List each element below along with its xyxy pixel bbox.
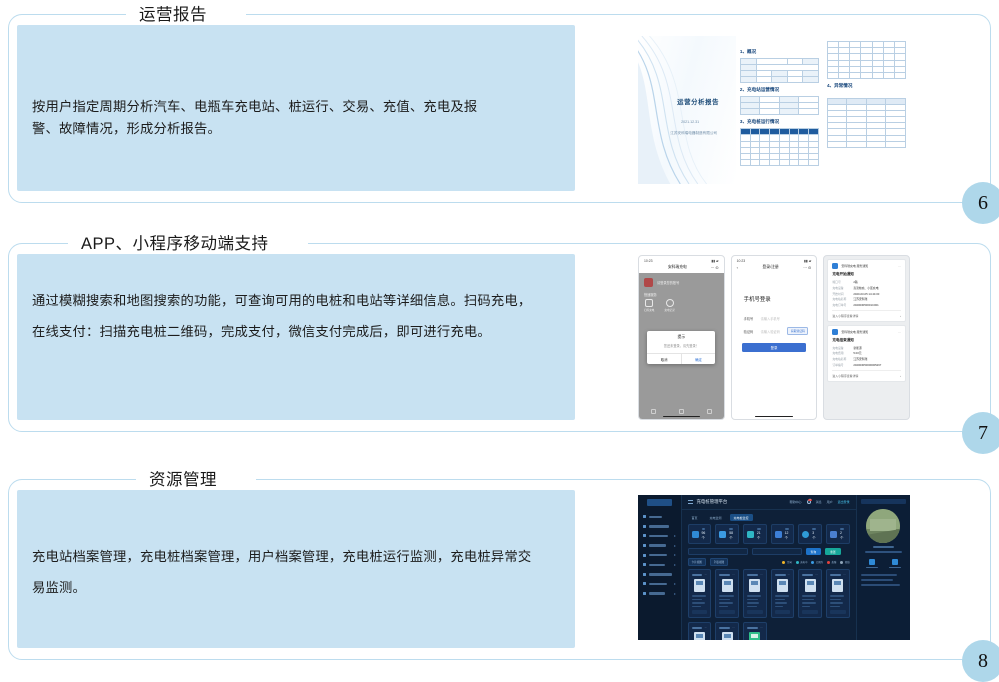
report-cover-company: 江苏安科瑞电器制造有限公司 <box>670 131 717 136</box>
report-table-overview <box>740 58 819 84</box>
report-heading-3: 3、充电桩运行情况 <box>740 119 819 125</box>
info-value: 5.00元 <box>853 351 861 355</box>
stat-icon <box>747 531 754 538</box>
report-sub-note <box>827 92 906 96</box>
chevron-right-icon <box>674 535 676 537</box>
legend-item: 空闲 <box>782 560 791 564</box>
action-label <box>866 567 878 569</box>
tab-home-icon[interactable] <box>651 409 656 414</box>
section-operation-report: 运营报告 按用户指定周期分析汽车、电瓶车充电站、桩运行、交易、充值、充电及报警、… <box>8 14 991 203</box>
pile-card[interactable]: ⋯ <box>688 569 712 618</box>
avatar <box>644 278 653 287</box>
sidebar-item-stations[interactable] <box>638 522 681 532</box>
logout-link[interactable]: 退出登录 <box>838 500 850 504</box>
more-icon: ⋯ <box>843 573 846 576</box>
report-heading-1: 1、概况 <box>740 49 819 55</box>
section-mobile-support: APP、小程序移动端支持 通过模糊搜索和地图搜索的功能，可查询可用的电桩和电站等… <box>8 243 991 432</box>
pile-card-footer <box>719 610 735 614</box>
report-table-piles <box>740 128 819 166</box>
stat-card: 3 个 <box>798 524 822 544</box>
phone-field-row: 手机号 请输入手机号 <box>744 316 809 321</box>
help-link[interactable]: 帮助中心 <box>790 500 802 504</box>
pile-card[interactable]: ⋯ <box>743 622 767 640</box>
dashboard-sidebar <box>638 495 682 640</box>
filter-bar: 查询 重置 <box>682 548 856 558</box>
notification-card[interactable]: 安科瑞充电 服务通知 ⋯ 充电开始通知 端口号2路 充电设备直流桩充、小区充电 … <box>827 259 906 322</box>
section-description: 按用户指定周期分析汽车、电瓶车充电站、桩运行、交易、充值、充电及报警、故障情况，… <box>32 96 502 140</box>
info-row: 充电订单号202003050001C001 <box>832 303 901 307</box>
search-button[interactable]: 查询 <box>806 548 822 555</box>
report-heading-4: 4、异常情况 <box>827 83 906 89</box>
action-label: 扫码充电 <box>644 308 654 312</box>
stat-label <box>785 528 789 530</box>
phone-body: 请登录您的账号 快速服务 扫码充电 充电记录 <box>639 273 724 419</box>
legend-item: 已预约 <box>811 560 823 564</box>
notification-bell-icon[interactable]: 3 <box>807 500 811 504</box>
keyword-input[interactable] <box>688 548 748 555</box>
section-description: 通过模糊搜索和地图搜索的功能，可查询可用的电桩和电站等详细信息。扫码充电，在线支… <box>32 285 534 347</box>
device-info-line <box>861 574 897 576</box>
info-row: 开始时间2020-03-05 14:44:00 <box>832 292 901 296</box>
card-header: 安科瑞充电 服务通知 ⋯ <box>832 329 901 335</box>
report-heading-2: 2、充电站运营情况 <box>740 87 819 93</box>
operation-report-thumbnail: 运营分析报告 2021.12.31 江苏安科瑞电器制造有限公司 1、概况 2、充… <box>638 36 910 184</box>
dialog-message: 您还未登录，请先登录！ <box>647 343 715 348</box>
more-icon: ⋯ <box>732 626 735 629</box>
info-value: 2路 <box>853 280 857 284</box>
menu-toggle-icon[interactable] <box>688 500 693 504</box>
charge-records-action[interactable]: 充电记录 <box>664 299 674 312</box>
remote-stop-button[interactable] <box>889 559 901 568</box>
info-row: 充电设备直流桩充、小区充电 <box>832 286 901 290</box>
remote-start-button[interactable] <box>866 559 878 568</box>
tab-charge-icon[interactable] <box>679 409 684 414</box>
transaction-icon <box>643 563 646 566</box>
pile-icon <box>722 579 733 592</box>
dashboard-tabs: 首页 充电监测 充电桩监控 <box>682 510 856 524</box>
notification-title: 充电开始通知 <box>832 272 901 277</box>
status-icons: ▮▮ ▰ <box>711 259 718 263</box>
info-row: 充电站名称江苏安科瑞 <box>832 357 901 361</box>
stat-value: 3 个 <box>812 531 818 540</box>
card-header: 安科瑞充电 服务通知 ⋯ <box>832 263 901 269</box>
header-actions: 帮助中心 3 消息 用户 退出登录 <box>790 500 850 504</box>
stat-card: 96 个 <box>688 524 712 544</box>
home-icon <box>643 515 646 518</box>
more-icon: ⋯ <box>705 626 708 629</box>
legend-item: 充电中 <box>796 560 808 564</box>
user-header: 请登录您的账号 <box>644 278 679 287</box>
chevron-right-icon <box>674 545 676 547</box>
mobile-app-thumbnail: 10:23 ▮▮ ▰ 安科瑞充电 ⋯ ⊙ 请登录您的账号 <box>638 255 910 420</box>
pile-icon <box>805 579 816 592</box>
nav-title: 安科瑞充电 <box>668 265 687 270</box>
device-actions <box>861 559 906 568</box>
stat-value: 58 个 <box>729 531 735 540</box>
status-time: 10:23 <box>737 259 746 263</box>
dialog-title: 提示 <box>647 335 715 340</box>
legend-item: 故障 <box>827 560 836 564</box>
section-resource-management: 资源管理 充电站档案管理，充电桩档案管理，用户档案管理，充电桩运行监测，充电桩异… <box>8 479 991 660</box>
stat-value: 12 个 <box>785 531 791 540</box>
pile-icon <box>832 579 843 592</box>
dialog-buttons: 取消 确定 <box>647 353 715 364</box>
more-icon: ⋯ <box>705 573 708 576</box>
chevron-right-icon <box>674 554 676 556</box>
stat-label <box>729 528 733 530</box>
pile-card[interactable]: ⋯ <box>798 569 822 618</box>
scan-charge-action[interactable]: 扫码充电 <box>644 299 654 312</box>
info-row: 订单编号202003050000005267 <box>832 363 901 367</box>
user-link[interactable]: 用户 <box>827 500 833 504</box>
legend-bar: 卡片视图 列表视图 空闲 充电中 已预约 故障 离线 <box>682 558 856 569</box>
more-icon: ⋯ <box>760 626 763 629</box>
info-key: 充电订单号 <box>832 303 849 307</box>
chevron-right-icon: › <box>900 374 901 378</box>
stat-label <box>757 528 761 530</box>
section-description: 充电站档案管理，充电桩档案管理，用户档案管理，充电桩运行监测，充电桩异常交易监测… <box>32 541 534 603</box>
phone-field-input[interactable]: 请输入手机号 <box>761 316 809 321</box>
stop-icon <box>892 559 898 565</box>
nav-bar: 安科瑞充电 ⋯ ⊙ <box>639 264 724 273</box>
section-title: 资源管理 <box>140 466 226 490</box>
report-cover-title: 运营分析报告 <box>677 97 719 106</box>
dialog-cancel-button[interactable]: 取消 <box>647 354 680 364</box>
pile-icon <box>722 632 733 640</box>
info-key: 充电站名称 <box>832 357 849 361</box>
stat-cards: 96 个 58 个 21 个 12 个 3 个 2 个 <box>682 524 856 548</box>
user-icon <box>643 544 646 547</box>
pile-card[interactable]: ⋯ <box>771 569 795 618</box>
info-key: 充电设备 <box>832 286 849 290</box>
phone-field-label: 手机号 <box>744 316 756 321</box>
notification-title: 充电结束通知 <box>832 338 901 343</box>
info-value: 直流桩充、小区充电 <box>853 286 878 290</box>
status-legend: 空闲 充电中 已预约 故障 离线 <box>782 560 849 564</box>
stat-icon <box>775 531 782 538</box>
pile-icon <box>694 632 705 640</box>
messages-link[interactable]: 消息 <box>816 500 822 504</box>
status-select[interactable] <box>752 548 802 555</box>
action-label: 充电记录 <box>664 308 674 312</box>
pile-card-footer <box>830 610 846 614</box>
report-page-3: 4、异常情况 <box>823 36 910 184</box>
sidebar-item-transactions[interactable] <box>638 560 681 570</box>
sidebar-item-label <box>649 525 669 527</box>
pile-icon-active <box>749 632 760 640</box>
info-value: 202003050001C001 <box>853 303 878 307</box>
report-page-2: 1、概况 2、充电站运营情况 3、充电桩运行情况 <box>736 36 823 184</box>
nav-capsule: ⋯ ⊙ <box>803 265 811 270</box>
nav-title: 登录/注册 <box>762 265 778 270</box>
sidebar-item-label <box>649 516 662 518</box>
stat-value: 96 个 <box>702 531 708 540</box>
chevron-right-icon <box>674 593 676 595</box>
notification-card[interactable]: 安科瑞充电 服务通知 ⋯ 充电结束通知 充电设备新能源 充电费用5.00元 充电… <box>827 325 906 382</box>
header-title: 充电桩管理平台 <box>697 499 728 505</box>
stat-label <box>702 528 706 530</box>
status-bar: 10:23 ▮▮ ▰ <box>732 256 817 264</box>
sidebar-item-monitoring[interactable] <box>638 550 681 560</box>
pile-card-footer <box>747 610 763 614</box>
phone-body: 手机号登录 手机号 请输入手机号 验证码 请输入验证码 获取验证码 登录 <box>732 273 817 419</box>
device-info-line <box>861 579 894 581</box>
info-key: 充电费用 <box>832 351 849 355</box>
tab-pile-monitor[interactable]: 充电桩监控 <box>730 514 753 521</box>
view-chip-card[interactable]: 卡片视图 <box>688 558 706 566</box>
device-info-line <box>861 584 900 586</box>
footer-label: 进入小程序查看详情 <box>832 374 858 378</box>
info-row: 充电设备新能源 <box>832 346 901 350</box>
info-row: 端口号2路 <box>832 280 901 284</box>
home-indicator <box>663 416 700 417</box>
code-field-input[interactable]: 请输入验证码 <box>761 329 783 334</box>
stat-icon <box>719 531 726 538</box>
status-icons: ▮▮ ▰ <box>804 259 811 263</box>
home-indicator <box>755 416 792 417</box>
more-icon: ⋯ <box>732 573 735 576</box>
phone-home-screen: 10:23 ▮▮ ▰ 安科瑞充电 ⋯ ⊙ 请登录您的账号 <box>638 255 725 420</box>
quick-service-label: 快速服务 <box>644 292 657 297</box>
device-description <box>865 551 902 553</box>
notification-count: 3 <box>808 499 811 501</box>
stat-card: 58 个 <box>715 524 739 544</box>
app-icon <box>832 329 838 335</box>
sidebar-item-abnormal[interactable] <box>638 570 681 580</box>
sidebar-item-users[interactable] <box>638 541 681 551</box>
info-value: 2020-03-05 14:44:00 <box>853 292 879 296</box>
feature-sections-page: 运营报告 按用户指定周期分析汽车、电瓶车充电站、桩运行、交易、充值、充电及报警、… <box>0 0 999 682</box>
station-icon <box>643 525 646 528</box>
sidebar-item-settings[interactable] <box>638 589 681 599</box>
info-value: 江苏安科瑞 <box>853 357 867 361</box>
tab-home[interactable]: 首页 <box>688 514 702 521</box>
more-icon[interactable]: ⋯ <box>898 330 901 334</box>
stat-value: 2 个 <box>840 531 846 540</box>
records-icon <box>666 299 674 307</box>
card-footer[interactable]: 进入小程序查看详情 › <box>832 370 901 378</box>
nav-capsule: ⋯ ⊙ <box>711 265 719 270</box>
pile-icon <box>643 534 646 537</box>
pile-card-footer <box>775 610 791 614</box>
dashboard-header: 充电桩管理平台 帮助中心 3 消息 用户 退出登录 <box>682 495 856 510</box>
monitor-icon <box>643 554 646 557</box>
login-submit-button[interactable]: 登录 <box>742 343 807 352</box>
chevron-right-icon <box>674 583 676 585</box>
chevron-right-icon: › <box>900 314 901 318</box>
sidebar-item-label <box>649 535 668 537</box>
sidebar-item-reports[interactable] <box>638 579 681 589</box>
info-row: 充电站名称江苏安科瑞 <box>832 297 901 301</box>
reset-button[interactable]: 重置 <box>825 548 841 555</box>
app-name: 安科瑞充电 服务通知 <box>841 264 895 268</box>
report-icon <box>643 582 646 585</box>
app-icon <box>832 263 838 269</box>
alert-icon <box>643 573 646 576</box>
report-cover-page: 运营分析报告 2021.12.31 江苏安科瑞电器制造有限公司 <box>638 36 736 184</box>
more-icon: ⋯ <box>815 573 818 576</box>
resource-dashboard-thumbnail: 充电桩管理平台 帮助中心 3 消息 用户 退出登录 首页 充电监测 充电桩监控 <box>638 495 910 640</box>
info-value: 江苏安科瑞 <box>853 297 867 301</box>
stat-icon <box>830 531 837 538</box>
info-key: 充电站名称 <box>832 297 849 301</box>
sidebar-item-label <box>649 573 672 575</box>
code-field-label: 验证码 <box>744 329 756 334</box>
stat-icon <box>802 531 809 538</box>
device-photo <box>866 509 900 543</box>
phone-login-screen: 10:23 ▮▮ ▰ ‹ 登录/注册 ⋯ ⊙ 手机号登录 手机号 请输入手机号 <box>731 255 818 420</box>
stat-card: 2 个 <box>826 524 850 544</box>
footer-label: 进入小程序查看详情 <box>832 314 858 318</box>
stat-value: 21 个 <box>757 531 763 540</box>
sidebar-item-label <box>649 583 667 585</box>
report-table-detail <box>827 41 906 79</box>
more-icon[interactable]: ⋯ <box>898 264 901 268</box>
status-time: 10:23 <box>644 259 653 263</box>
login-title: 手机号登录 <box>744 295 771 303</box>
info-value: 新能源 <box>853 346 861 350</box>
sidebar-item-label <box>649 564 665 566</box>
code-field-row: 验证码 请输入验证码 获取验证码 <box>744 327 809 335</box>
action-label <box>889 567 901 569</box>
phone-notifications-screen: 安科瑞充电 服务通知 ⋯ 充电开始通知 端口号2路 充电设备直流桩充、小区充电 … <box>823 255 910 420</box>
legend-item: 离线 <box>840 560 849 564</box>
pile-card[interactable]: ⋯ <box>715 622 739 640</box>
sidebar-item-label <box>649 544 666 546</box>
pile-card-footer <box>692 610 708 614</box>
more-icon: ⋯ <box>788 573 791 576</box>
nav-bar: ‹ 登录/注册 ⋯ ⊙ <box>732 264 817 273</box>
tab-bar <box>639 409 724 414</box>
app-name: 安科瑞充电 服务通知 <box>841 330 895 334</box>
more-icon: ⋯ <box>760 573 763 576</box>
report-page-header <box>740 41 819 45</box>
sidebar-item-label <box>649 592 665 594</box>
tab-profile-icon[interactable] <box>707 409 712 414</box>
sidebar-item-piles[interactable] <box>638 531 681 541</box>
dashboard-right-panel <box>856 495 910 640</box>
tab-charge-monitor[interactable]: 充电监测 <box>706 514 726 521</box>
section-title: APP、小程序移动端支持 <box>72 230 278 254</box>
view-chip-list[interactable]: 列表视图 <box>710 558 728 566</box>
brand-logo <box>647 499 673 506</box>
stat-label <box>840 528 844 530</box>
pile-card[interactable]: ⋯ <box>715 569 739 618</box>
section-title: 运营报告 <box>130 1 216 25</box>
pile-icon <box>777 579 788 592</box>
dashboard-main: 充电桩管理平台 帮助中心 3 消息 用户 退出登录 首页 充电监测 充电桩监控 <box>682 495 856 640</box>
info-row: 充电费用5.00元 <box>832 351 901 355</box>
info-key: 开始时间 <box>832 292 849 296</box>
stat-card: 12 个 <box>771 524 795 544</box>
section-number-badge-8: 8 <box>962 640 999 682</box>
start-icon <box>869 559 875 565</box>
pile-icon <box>694 579 705 592</box>
login-prompt-dialog: 提示 您还未登录，请先登录！ 取消 确定 <box>647 331 715 364</box>
section-number-badge-7: 7 <box>962 412 999 454</box>
section-number-badge-6: 6 <box>962 182 999 224</box>
pile-icon <box>749 579 760 592</box>
report-cover-date: 2021.12.31 <box>681 120 699 124</box>
report-table-exceptions <box>827 98 906 148</box>
pile-card[interactable]: ⋯ <box>826 569 850 618</box>
pile-card-grid: ⋯ ⋯ ⋯ ⋯ ⋯ ⋯ ⋯ ⋯ ⋯ <box>682 569 856 640</box>
back-icon[interactable]: ‹ <box>737 266 738 270</box>
quick-actions: 扫码充电 充电记录 <box>644 299 675 312</box>
info-key: 端口号 <box>832 280 849 284</box>
card-footer[interactable]: 进入小程序查看详情 › <box>832 310 901 318</box>
gear-icon <box>643 592 646 595</box>
chevron-right-icon <box>674 564 676 566</box>
stat-label <box>812 528 816 530</box>
sidebar-item-label <box>649 554 667 556</box>
panel-header <box>861 499 906 504</box>
stat-card: 21 个 <box>743 524 767 544</box>
pile-card-footer <box>802 610 818 614</box>
info-key: 充电设备 <box>832 346 849 350</box>
login-hint: 请登录您的账号 <box>657 280 679 285</box>
dialog-confirm-button[interactable]: 确定 <box>681 354 715 364</box>
get-code-button[interactable]: 获取验证码 <box>787 327 808 335</box>
info-key: 订单编号 <box>832 363 849 367</box>
info-value: 202003050000005267 <box>853 363 881 367</box>
pile-card[interactable]: ⋯ <box>743 569 767 618</box>
device-name <box>873 546 894 548</box>
status-bar: 10:23 ▮▮ ▰ <box>639 256 724 264</box>
stat-icon <box>692 531 699 538</box>
scan-icon <box>645 299 653 307</box>
pile-card[interactable]: ⋯ <box>688 622 712 640</box>
sidebar-item-home[interactable] <box>638 512 681 522</box>
report-table-station <box>740 96 819 116</box>
